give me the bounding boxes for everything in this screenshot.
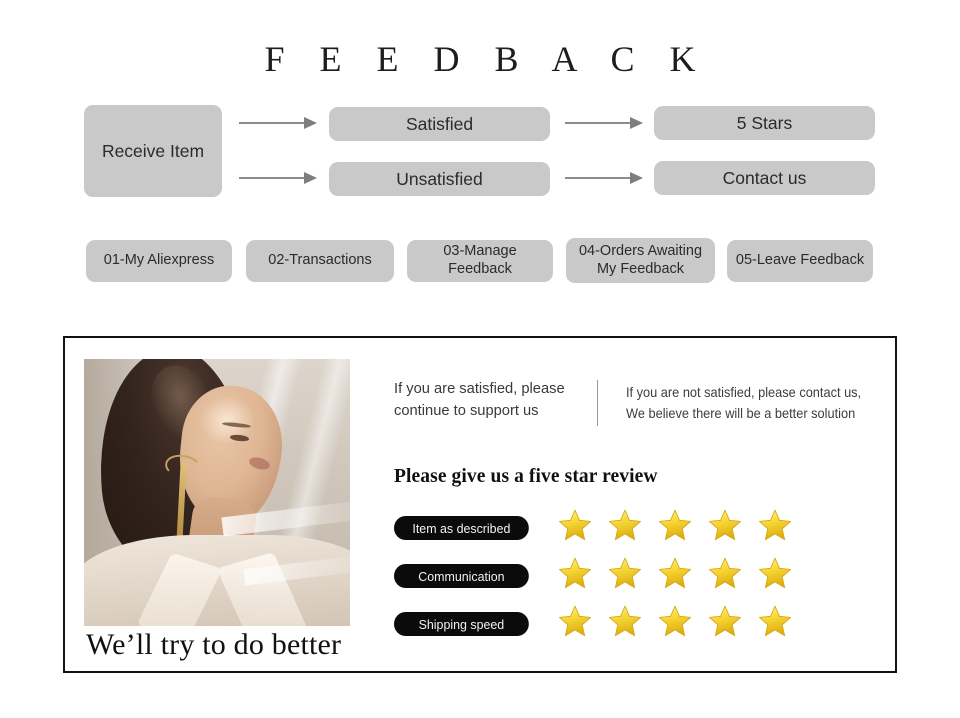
arrow-head-icon — [630, 172, 643, 184]
star-icon[interactable] — [558, 556, 592, 590]
step-chip-01-my-aliexpress[interactable]: 01-My Aliexpress — [86, 240, 232, 282]
star-rating-communication[interactable] — [558, 556, 792, 590]
model-photo — [84, 359, 350, 626]
arrow-shaft — [239, 122, 304, 123]
rating-pill-label: Communication — [418, 569, 504, 584]
flow-box-five-stars[interactable]: 5 Stars — [654, 106, 875, 140]
arrow-head-icon — [630, 117, 643, 129]
star-icon[interactable] — [558, 508, 592, 542]
arrow-head-icon — [304, 117, 317, 129]
rating-pill-label: Shipping speed — [419, 617, 505, 632]
flow-box-five-stars-label: 5 Stars — [737, 113, 792, 134]
star-icon[interactable] — [608, 556, 642, 590]
arrow-shaft — [239, 177, 304, 178]
flow-box-unsatisfied[interactable]: Unsatisfied — [329, 162, 550, 196]
note-divider — [597, 380, 598, 426]
star-icon[interactable] — [758, 604, 792, 638]
note-unsatisfied: If you are not satisfied, please contact… — [626, 382, 870, 425]
star-icon[interactable] — [708, 604, 742, 638]
star-icon[interactable] — [758, 508, 792, 542]
arrow-unsatisfied-to-contact-us — [565, 172, 643, 184]
note-satisfied: If you are satisfied, please continue to… — [394, 378, 589, 422]
step-chip-04-orders-awaiting-my-feedback[interactable]: 04-Orders Awaiting My Feedback — [566, 238, 715, 283]
star-icon[interactable] — [608, 508, 642, 542]
flow-box-satisfied[interactable]: Satisfied — [329, 107, 550, 141]
rating-pill-item-as-described[interactable]: Item as described — [394, 516, 529, 540]
star-icon[interactable] — [708, 556, 742, 590]
rating-pill-label: Item as described — [412, 521, 510, 536]
arrow-shaft — [565, 122, 630, 123]
star-rating-item-as-described[interactable] — [558, 508, 792, 542]
photo-blazer — [84, 535, 350, 626]
step-chip-label: 03-Manage Feedback — [413, 243, 547, 278]
review-heading: Please give us a five star review — [394, 466, 658, 488]
flow-box-contact-us-label: Contact us — [723, 168, 807, 189]
star-icon[interactable] — [658, 604, 692, 638]
step-chip-03-manage-feedback[interactable]: 03-Manage Feedback — [407, 240, 553, 282]
flow-box-satisfied-label: Satisfied — [406, 114, 473, 135]
star-icon[interactable] — [558, 604, 592, 638]
star-icon[interactable] — [608, 604, 642, 638]
star-icon[interactable] — [658, 508, 692, 542]
rating-rows: Item as described Communication — [394, 514, 864, 658]
rating-row-item-as-described: Item as described — [394, 514, 864, 562]
rating-pill-shipping-speed[interactable]: Shipping speed — [394, 612, 529, 636]
flow-diagram: Receive Item Satisfied Unsatisfied 5 Sta… — [0, 0, 960, 220]
step-chip-05-leave-feedback[interactable]: 05-Leave Feedback — [727, 240, 873, 282]
tagline: We’ll try to do better — [86, 628, 341, 662]
step-chip-label: 01-My Aliexpress — [104, 252, 214, 270]
star-rating-shipping-speed[interactable] — [558, 604, 792, 638]
rating-pill-communication[interactable]: Communication — [394, 564, 529, 588]
model-photo-image — [84, 359, 350, 626]
flow-box-contact-us[interactable]: Contact us — [654, 161, 875, 195]
arrow-shaft — [565, 177, 630, 178]
star-icon[interactable] — [708, 508, 742, 542]
rating-row-shipping-speed: Shipping speed — [394, 610, 864, 658]
step-chip-label: 05-Leave Feedback — [736, 252, 864, 270]
flow-box-unsatisfied-label: Unsatisfied — [396, 169, 483, 190]
arrow-satisfied-to-five-stars — [565, 117, 643, 129]
step-chip-02-transactions[interactable]: 02-Transactions — [246, 240, 394, 282]
flow-box-receive-item[interactable]: Receive Item — [84, 105, 222, 197]
step-chip-label: 04-Orders Awaiting My Feedback — [579, 243, 702, 278]
arrow-receive-to-satisfied — [239, 117, 317, 129]
arrow-receive-to-unsatisfied — [239, 172, 317, 184]
step-chip-label: 02-Transactions — [268, 252, 371, 270]
flow-box-receive-item-label: Receive Item — [102, 141, 204, 162]
star-icon[interactable] — [758, 556, 792, 590]
rating-row-communication: Communication — [394, 562, 864, 610]
star-icon[interactable] — [658, 556, 692, 590]
review-request-panel: We’ll try to do better If you are satisf… — [63, 336, 897, 673]
arrow-head-icon — [304, 172, 317, 184]
